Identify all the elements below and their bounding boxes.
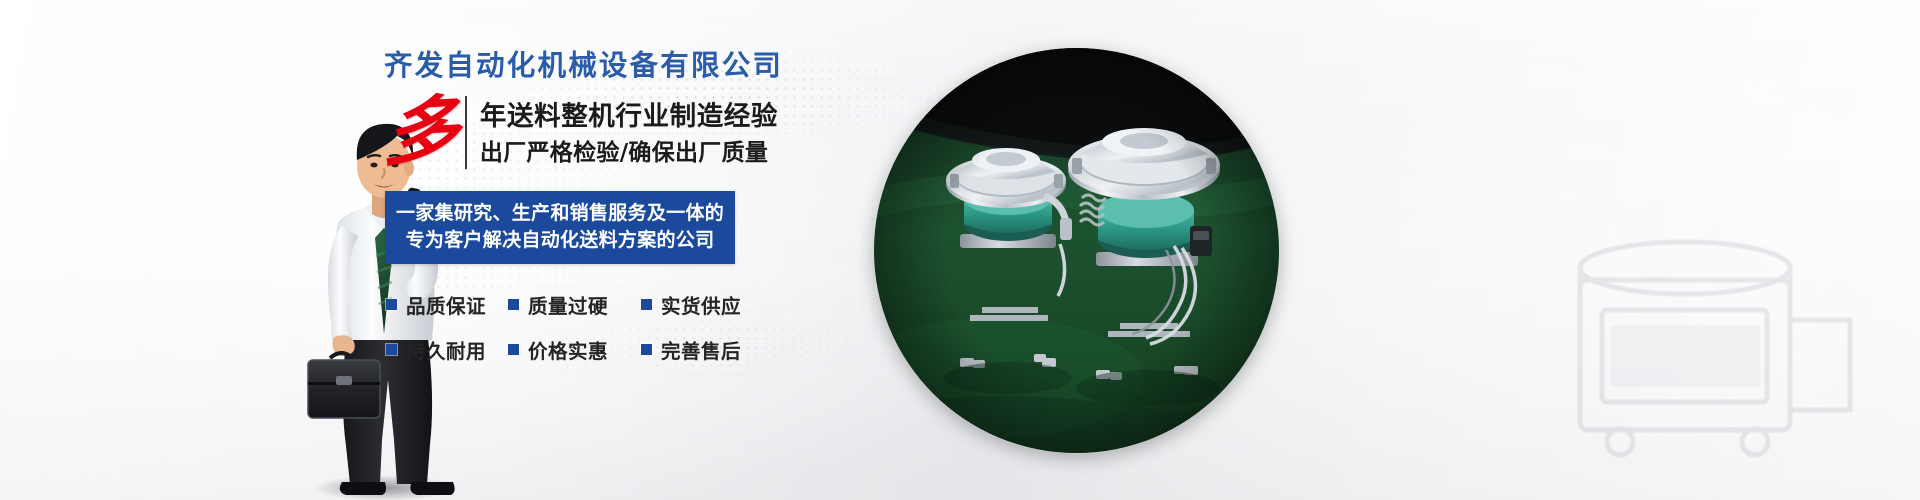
square-bullet-icon <box>508 299 519 310</box>
highlight-character: 多 <box>375 96 467 169</box>
feature-row: 持久耐用 价格实惠 完善售后 <box>386 335 756 364</box>
feature-label: 品质保证 <box>406 290 486 319</box>
square-bullet-icon <box>508 344 519 355</box>
slogan-row: 多 年送料整机行业制造经验 出厂严格检验/确保出厂质量 <box>378 96 778 168</box>
highlight-box-line-2: 专为客户解决自动化送料方案的公司 <box>385 227 735 254</box>
highlight-box: 一家集研究、生产和销售服务及一体的 专为客户解决自动化送料方案的公司 <box>385 191 735 264</box>
feature-label: 价格实惠 <box>528 335 608 364</box>
feature-label: 质量过硬 <box>528 290 608 319</box>
banner-copy: 齐发自动化机械设备有限公司 多 年送料整机行业制造经验 出厂严格检验/确保出厂质… <box>378 50 778 380</box>
feature-label: 持久耐用 <box>406 335 486 364</box>
square-bullet-icon <box>386 299 397 310</box>
slogan-line-1: 年送料整机行业制造经验 <box>480 100 778 133</box>
feature-list: 品质保证 质量过硬 实货供应 持久耐用 价格实惠 <box>386 290 756 364</box>
feature-item: 完善售后 <box>641 335 741 364</box>
highlight-box-line-1: 一家集研究、生产和销售服务及一体的 <box>385 200 735 227</box>
square-bullet-icon <box>641 299 652 310</box>
feature-label: 完善售后 <box>661 335 741 364</box>
faint-machine-silhouette-icon <box>1550 160 1880 460</box>
feature-item: 持久耐用 <box>386 335 508 364</box>
promotional-banner: 齐发自动化机械设备有限公司 多 年送料整机行业制造经验 出厂严格检验/确保出厂质… <box>0 0 1920 500</box>
feature-label: 实货供应 <box>661 290 741 319</box>
feature-item: 品质保证 <box>386 290 508 319</box>
feature-item: 价格实惠 <box>508 335 641 364</box>
square-bullet-icon <box>386 344 397 355</box>
slogan-lines: 年送料整机行业制造经验 出厂严格检验/确保出厂质量 <box>465 96 778 168</box>
feature-item: 质量过硬 <box>508 290 641 319</box>
page-title: 齐发自动化机械设备有限公司 <box>384 50 778 81</box>
product-photo <box>874 48 1279 453</box>
slogan-line-2: 出厂严格检验/确保出厂质量 <box>480 139 778 169</box>
feature-item: 实货供应 <box>641 290 741 319</box>
square-bullet-icon <box>641 344 652 355</box>
feature-row: 品质保证 质量过硬 实货供应 <box>386 290 756 319</box>
